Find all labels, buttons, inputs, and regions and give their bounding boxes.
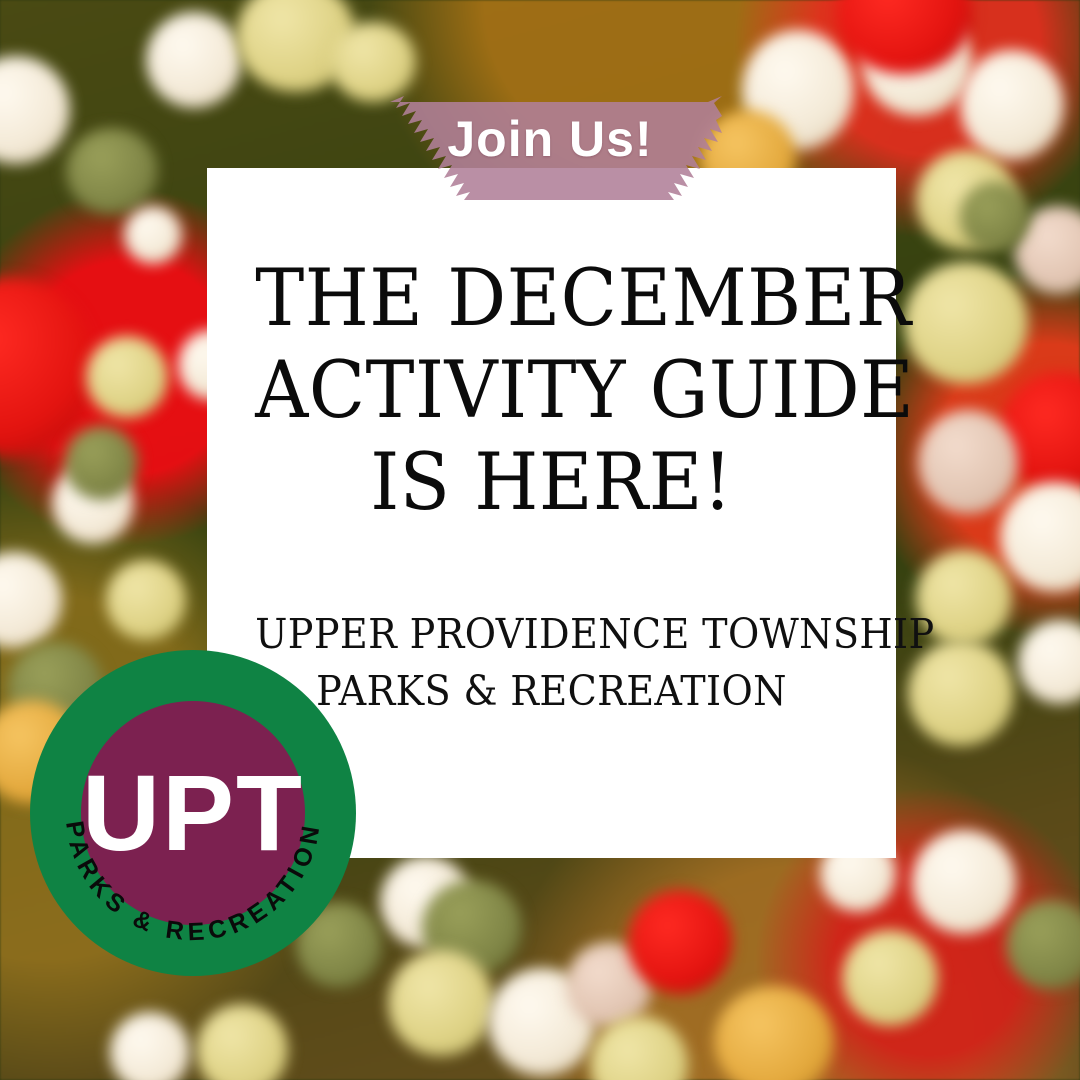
bokeh-dot	[1006, 900, 1080, 990]
bokeh-dot	[388, 950, 494, 1056]
bokeh-dot	[106, 560, 186, 640]
bokeh-dot	[960, 50, 1064, 160]
bokeh-dot	[842, 930, 938, 1026]
bokeh-dot	[918, 410, 1018, 514]
headline-line-3: IS HERE!	[255, 436, 847, 528]
bokeh-dot	[714, 986, 834, 1080]
logo-monogram: UPT	[82, 752, 304, 873]
bokeh-dot	[0, 56, 70, 164]
join-us-banner: Join Us!	[378, 96, 722, 200]
bokeh-dot	[904, 262, 1028, 384]
bokeh-dot	[86, 336, 168, 418]
upt-logo-badge: UPT PARKS & RECREATION	[30, 650, 356, 976]
bokeh-dot	[1018, 620, 1080, 704]
bokeh-dot	[912, 830, 1016, 934]
bokeh-dot	[0, 552, 62, 648]
bokeh-dot	[628, 890, 732, 994]
bokeh-dot	[330, 22, 416, 102]
headline-line-2: ACTIVITY GUIDE	[255, 344, 847, 436]
upt-logo-icon: UPT PARKS & RECREATION	[30, 650, 356, 976]
bokeh-dot	[64, 426, 138, 500]
bokeh-dot	[146, 12, 242, 108]
bokeh-dot	[110, 1012, 190, 1080]
banner-label: Join Us!	[378, 113, 722, 165]
bokeh-dot	[1000, 482, 1080, 592]
bokeh-dot	[960, 182, 1030, 252]
headline-line-1: THE DECEMBER	[255, 252, 847, 344]
bokeh-dot	[196, 1004, 288, 1080]
page-title: THE DECEMBER ACTIVITY GUIDE IS HERE!	[255, 252, 847, 528]
poster-canvas: THE DECEMBER ACTIVITY GUIDE IS HERE! UPP…	[0, 0, 1080, 1080]
bokeh-dot	[124, 206, 182, 264]
bokeh-dot	[66, 128, 158, 214]
bokeh-dot	[0, 278, 94, 456]
